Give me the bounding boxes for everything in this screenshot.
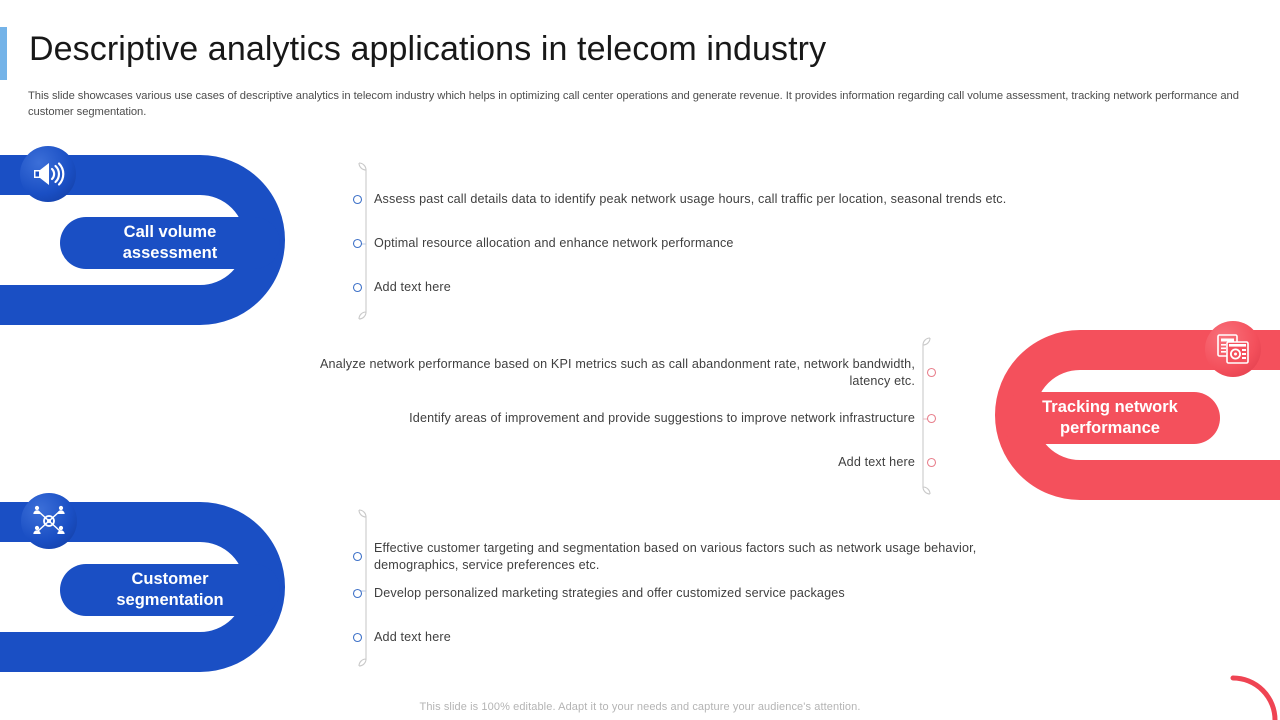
- label-tracking-network-performance[interactable]: Tracking network performance: [1000, 392, 1220, 444]
- bullet-marker-icon: [352, 551, 363, 562]
- label-line-1: Call volume: [124, 223, 217, 241]
- label-line-2: assessment: [123, 244, 217, 262]
- bullet-item: Add text here: [352, 279, 1052, 296]
- bullet-item: Assess past call details data to identif…: [352, 191, 1052, 208]
- bullet-marker-icon: [926, 413, 937, 424]
- label-customer-segmentation[interactable]: Customer segmentation: [60, 564, 280, 616]
- label-line-2: performance: [1060, 419, 1160, 437]
- bullet-marker-icon: [352, 632, 363, 643]
- people-network-icon: [21, 493, 77, 549]
- bullet-item: Add text here: [352, 629, 1052, 646]
- title-accent-bar: [0, 27, 7, 80]
- bullet-list-tracking-network-performance: Analyze network performance based on KPI…: [262, 333, 937, 499]
- label-text: Tracking network performance: [1042, 397, 1178, 439]
- corner-decoration-arc: [1220, 665, 1280, 720]
- label-call-volume-assessment[interactable]: Call volume assessment: [60, 217, 280, 269]
- bullet-marker-icon: [926, 367, 937, 378]
- bullet-item: Optimal resource allocation and enhance …: [352, 235, 1052, 252]
- label-line-1: Tracking network: [1042, 398, 1178, 416]
- label-text: Call volume assessment: [123, 222, 217, 264]
- bullet-marker-icon: [352, 282, 363, 293]
- bullet-item: Effective customer targeting and segment…: [352, 540, 1052, 573]
- bullet-list-call-volume-assessment: Assess past call details data to identif…: [352, 158, 1052, 324]
- bullet-marker-icon: [352, 238, 363, 249]
- slide-canvas: Descriptive analytics applications in te…: [0, 0, 1280, 720]
- bullet-marker-icon: [926, 457, 937, 468]
- report-gear-icon: [1205, 321, 1261, 377]
- bullet-list-customer-segmentation: Effective customer targeting and segment…: [352, 505, 1052, 671]
- bullet-item: Develop personalized marketing strategie…: [352, 585, 1052, 602]
- bullet-marker-icon: [352, 194, 363, 205]
- bullet-marker-icon: [352, 588, 363, 599]
- bullet-item: Add text here: [262, 454, 937, 471]
- label-line-1: Customer: [131, 570, 208, 588]
- label-text: Customer segmentation: [116, 569, 223, 611]
- speaker-icon: [20, 146, 76, 202]
- bullet-item: Analyze network performance based on KPI…: [262, 356, 937, 389]
- bullet-item: Identify areas of improvement and provid…: [262, 410, 937, 427]
- footer-note: This slide is 100% editable. Adapt it to…: [0, 701, 1280, 713]
- label-line-2: segmentation: [116, 591, 223, 609]
- slide-description: This slide showcases various use cases o…: [28, 89, 1256, 120]
- page-title: Descriptive analytics applications in te…: [29, 30, 826, 69]
